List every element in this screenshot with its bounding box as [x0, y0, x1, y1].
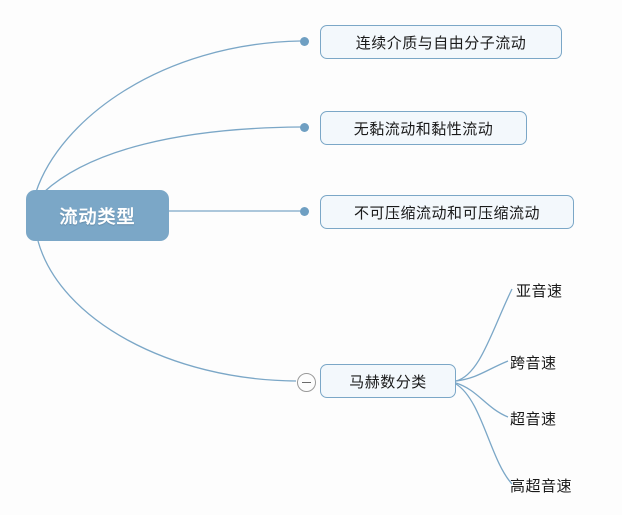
- connector-dot-child-2: [300, 123, 309, 132]
- edge-root-to-child-2: [44, 127, 300, 192]
- child-node-viscous-flow[interactable]: 无黏流动和黏性流动: [320, 111, 527, 145]
- leaf-node-hypersonic[interactable]: 高超音速: [510, 474, 595, 496]
- connector-dot-child-3: [300, 207, 309, 216]
- edge-root-to-child-4: [38, 241, 296, 381]
- edge-mach-to-leaf-3: [456, 383, 508, 417]
- child-node-compressible-flow[interactable]: 不可压缩流动和可压缩流动: [320, 195, 574, 229]
- minus-icon: [302, 382, 311, 383]
- child-node-mach-classification[interactable]: 马赫数分类: [320, 364, 456, 398]
- connector-dot-child-1: [300, 37, 309, 46]
- mindmap-canvas: 流动类型 连续介质与自由分子流动 无黏流动和黏性流动 不可压缩流动和可压缩流动 …: [0, 0, 622, 515]
- edge-mach-to-leaf-1: [456, 289, 512, 381]
- edge-root-to-child-1: [36, 41, 300, 192]
- collapse-toggle-icon[interactable]: [297, 373, 316, 392]
- edge-mach-to-leaf-2: [456, 361, 508, 381]
- root-node[interactable]: 流动类型: [26, 190, 169, 241]
- leaf-node-supersonic[interactable]: 超音速: [510, 407, 590, 429]
- edge-mach-to-leaf-4: [456, 384, 512, 484]
- leaf-node-subsonic[interactable]: 亚音速: [516, 279, 596, 301]
- leaf-node-transonic[interactable]: 跨音速: [510, 351, 590, 373]
- child-node-continuum-flow[interactable]: 连续介质与自由分子流动: [320, 25, 562, 59]
- connector-edges: [0, 0, 622, 515]
